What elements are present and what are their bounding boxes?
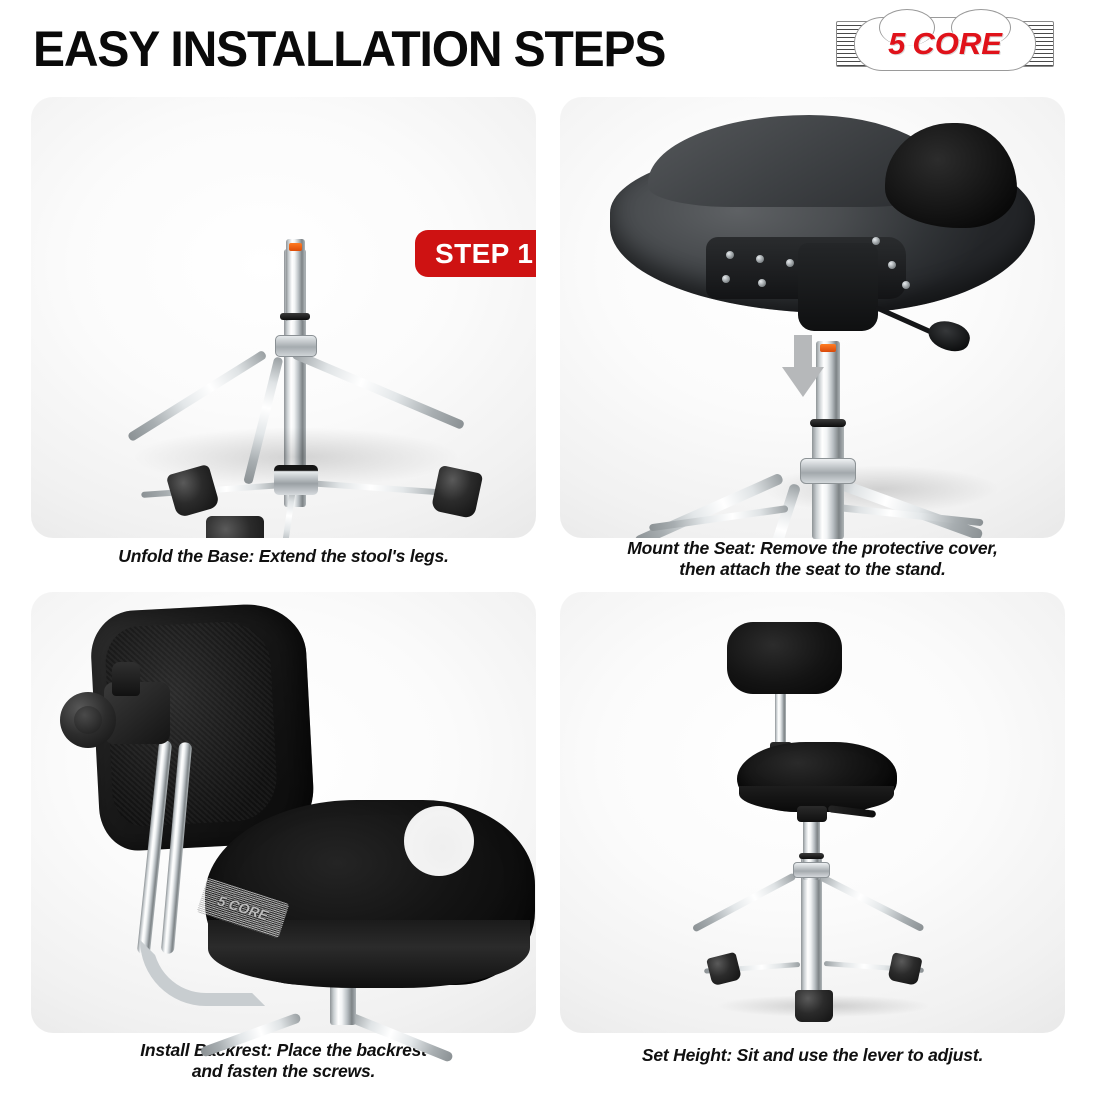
brand-logo-5core: 5CORE xyxy=(836,21,1054,67)
upper-post xyxy=(286,239,305,321)
arrow-head xyxy=(782,367,824,397)
leg-hub-upper xyxy=(275,335,317,357)
backrest-clamp-top xyxy=(112,662,140,696)
column-collar-top xyxy=(280,313,310,320)
step-4-caption: Set Height: Sit and use the lever to adj… xyxy=(560,1045,1065,1066)
logo-text: 5CORE xyxy=(836,21,1054,67)
rubber-foot-front xyxy=(795,990,833,1022)
caption-line: Unfold the Base: Extend the stool's legs… xyxy=(31,546,536,567)
arrow-shaft xyxy=(794,335,812,369)
saddle-seat-underside xyxy=(610,115,1035,330)
mount-screw xyxy=(902,281,910,289)
tripod-brace-front xyxy=(280,488,296,538)
leg-hub xyxy=(800,458,856,484)
caption-line: Mount the Seat: Remove the protective co… xyxy=(560,538,1065,559)
page-title: EASY INSTALLATION STEPS xyxy=(33,20,665,78)
seat-contour-notch xyxy=(404,806,474,876)
mount-screw xyxy=(726,251,734,259)
mount-screw xyxy=(756,255,764,263)
rubber-foot-right xyxy=(887,952,922,986)
post-collar xyxy=(799,853,824,859)
seat-hub xyxy=(797,806,827,822)
mount-screw xyxy=(758,279,766,287)
logo-word: CORE xyxy=(912,26,1002,62)
rubber-foot-front xyxy=(206,516,264,538)
backrest-post xyxy=(775,688,786,750)
step-1-illustration xyxy=(31,97,536,538)
header: EASY INSTALLATION STEPS 5CORE xyxy=(0,0,1096,92)
backrest-panel xyxy=(727,622,842,694)
mount-screw xyxy=(786,259,794,267)
rubber-foot-right xyxy=(431,465,484,519)
leg-hub xyxy=(793,862,830,878)
mount-screw xyxy=(888,261,896,269)
leg-hub-lower xyxy=(274,465,318,495)
step-3-caption: Install Backrest: Place the backrest and… xyxy=(31,1040,536,1083)
down-arrow-icon xyxy=(782,335,824,397)
logo-number: 5 xyxy=(888,26,905,62)
step-badge-1: STEP 1 xyxy=(415,230,536,277)
seat-mount-mechanism xyxy=(798,243,878,331)
step-1-caption: Unfold the Base: Extend the stool's legs… xyxy=(31,546,536,567)
caption-line: Set Height: Sit and use the lever to adj… xyxy=(560,1045,1065,1066)
caption-line: and fasten the screws. xyxy=(31,1061,536,1082)
mount-screw xyxy=(872,237,880,245)
caption-line: Install Backrest: Place the backrest xyxy=(31,1040,536,1061)
step-1-image-panel: STEP 1 xyxy=(31,97,536,538)
step-2-caption: Mount the Seat: Remove the protective co… xyxy=(560,538,1065,581)
mount-screw xyxy=(722,275,730,283)
caption-line: then attach the seat to the stand. xyxy=(560,559,1065,580)
adjustment-knob-center xyxy=(74,706,102,734)
tripod-leg-right xyxy=(291,349,465,430)
post-collar xyxy=(810,419,846,427)
orange-cap-icon xyxy=(289,243,302,251)
infographic-page: EASY INSTALLATION STEPS 5CORE xyxy=(0,0,1096,1096)
